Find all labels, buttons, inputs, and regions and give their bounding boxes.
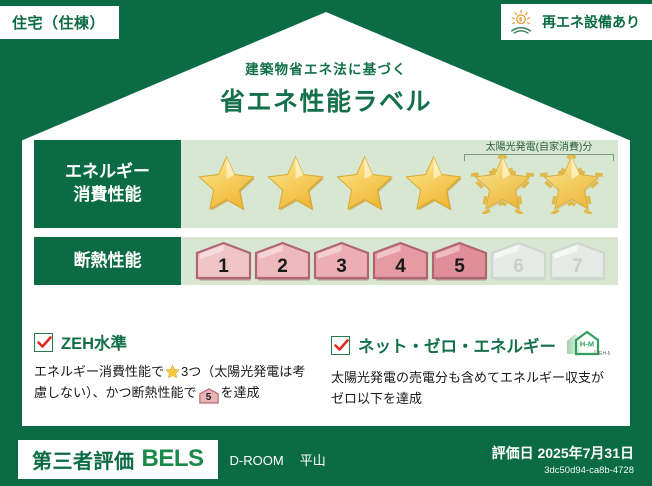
solar-self-consumption-note: 太陽光発電(自家消費)分	[464, 138, 614, 161]
star-dashed-icon	[540, 154, 603, 214]
insulation-performance-row: 断熱性能 1234567	[34, 237, 618, 285]
zeh-desc-part1: エネルギー消費性能で	[34, 364, 164, 379]
net-zero-checkbox	[331, 336, 350, 355]
renewable-equipment-tag: 再エネ設備あり	[501, 4, 652, 40]
insulation-grade-6: 6	[490, 241, 547, 281]
bels-certification-badge: 第三者評価 BELS	[18, 440, 218, 479]
criteria-zeh-header: ZEH水準	[34, 330, 311, 354]
svg-text:「ZEH-M」: 「ZEH-M」	[591, 351, 610, 357]
insulation-label-text: 断熱性能	[74, 250, 142, 273]
criteria-net-zero: ネット・ゼロ・エネルギー H-M 「ZEH-M」 太陽光発電の売電分も含めてエネ…	[323, 330, 622, 409]
project-name: D-ROOM平山	[230, 450, 326, 469]
star-dashed-icon	[471, 154, 534, 214]
solar-note-caption: 太陽光発電(自家消費)分	[464, 138, 614, 153]
net-zero-description: 太陽光発電の売電分も含めてエネルギー収支がゼロ以下を達成	[331, 367, 610, 409]
zeh-m-logo-icon: H-M 「ZEH-M」	[566, 330, 610, 360]
insulation-grade-value: 1	[218, 257, 229, 276]
page-title: 省エネ性能ラベル	[0, 82, 652, 118]
insulation-grade-5: 5	[431, 241, 488, 281]
housing-type-tag: 住宅（住棟）	[0, 6, 119, 39]
insulation-performance-value: 1234567	[181, 237, 618, 285]
renewable-equipment-label: 再エネ設備あり	[542, 12, 640, 32]
insulation-grade-2: 2	[254, 241, 311, 281]
bels-en-label: BELS	[142, 445, 204, 473]
zeh-title: ZEH水準	[61, 330, 127, 354]
check-icon	[36, 334, 53, 351]
energy-performance-label: エネルギー 消費性能	[34, 140, 181, 228]
check-icon	[333, 337, 350, 354]
zeh-checkbox	[34, 333, 53, 352]
net-zero-title: ネット・ゼロ・エネルギー	[358, 333, 556, 357]
sun-solar-icon	[509, 9, 535, 35]
insulation-performance-label: 断熱性能	[34, 237, 181, 285]
insulation-grade-7: 7	[549, 241, 606, 281]
svg-text:H-M: H-M	[580, 340, 594, 349]
insulation-grade-1: 1	[195, 241, 252, 281]
star-filled-icon	[264, 154, 327, 214]
criteria-sections: ZEH水準 エネルギー消費性能で3つ（太陽光発電は考慮しない）、かつ断熱性能で5…	[34, 330, 622, 409]
insulation-grade-value: 2	[277, 257, 288, 276]
insulation-grade-3: 3	[313, 241, 370, 281]
insulation-grade-scale: 1234567	[181, 241, 606, 281]
criteria-net-zero-header: ネット・ゼロ・エネルギー H-M 「ZEH-M」	[331, 330, 610, 360]
project-brand: D-ROOM	[230, 453, 284, 468]
inline-house-value: 5	[199, 388, 219, 407]
evaluation-info: 評価日 2025年7月31日 3dc50d94-ca8b-4728	[492, 443, 634, 476]
insulation-grade-4: 4	[372, 241, 429, 281]
star-filled-icon	[195, 154, 258, 214]
evaluation-date: 評価日 2025年7月31日	[492, 443, 634, 463]
insulation-grade-value: 5	[454, 257, 465, 276]
energy-label-line2: 消費性能	[74, 184, 142, 207]
title-subtitle: 建築物省エネ法に基づく	[0, 58, 652, 78]
star-filled-icon	[402, 154, 465, 214]
bels-jp-label: 第三者評価	[32, 445, 135, 474]
insulation-grade-value: 6	[513, 257, 524, 276]
star-icon	[165, 364, 180, 379]
zeh-description: エネルギー消費性能で3つ（太陽光発電は考慮しない）、かつ断熱性能で5を達成	[34, 361, 311, 403]
footer-bar: 第三者評価 BELS D-ROOM平山 評価日 2025年7月31日 3dc50…	[0, 432, 652, 486]
star-filled-icon	[333, 154, 396, 214]
title-block: 建築物省エネ法に基づく 省エネ性能ラベル	[0, 58, 652, 118]
insulation-grade-value: 3	[336, 257, 347, 276]
housing-type-label: 住宅（住棟）	[12, 12, 105, 33]
insulation-grade-value: 7	[572, 257, 583, 276]
zeh-desc-part3: を達成	[221, 385, 260, 400]
solar-bracket	[464, 154, 614, 161]
inline-house-badge: 5	[199, 388, 219, 403]
energy-label-line1: エネルギー	[65, 161, 150, 184]
energy-performance-label: 住宅（住棟） 再エネ設備あり 建築物省エネ法に基づく 省エネ性能ラベル	[0, 0, 652, 486]
criteria-zeh: ZEH水準 エネルギー消費性能で3つ（太陽光発電は考慮しない）、かつ断熱性能で5…	[34, 330, 323, 409]
project-building: 平山	[300, 453, 326, 468]
star-rating	[181, 154, 603, 214]
evaluation-id: 3dc50d94-ca8b-4728	[492, 465, 634, 476]
insulation-grade-value: 4	[395, 257, 406, 276]
performance-rows: エネルギー 消費性能 太陽光発電(自家消費)分 断熱性能 1234567	[34, 140, 618, 294]
energy-performance-row: エネルギー 消費性能 太陽光発電(自家消費)分	[34, 140, 618, 228]
